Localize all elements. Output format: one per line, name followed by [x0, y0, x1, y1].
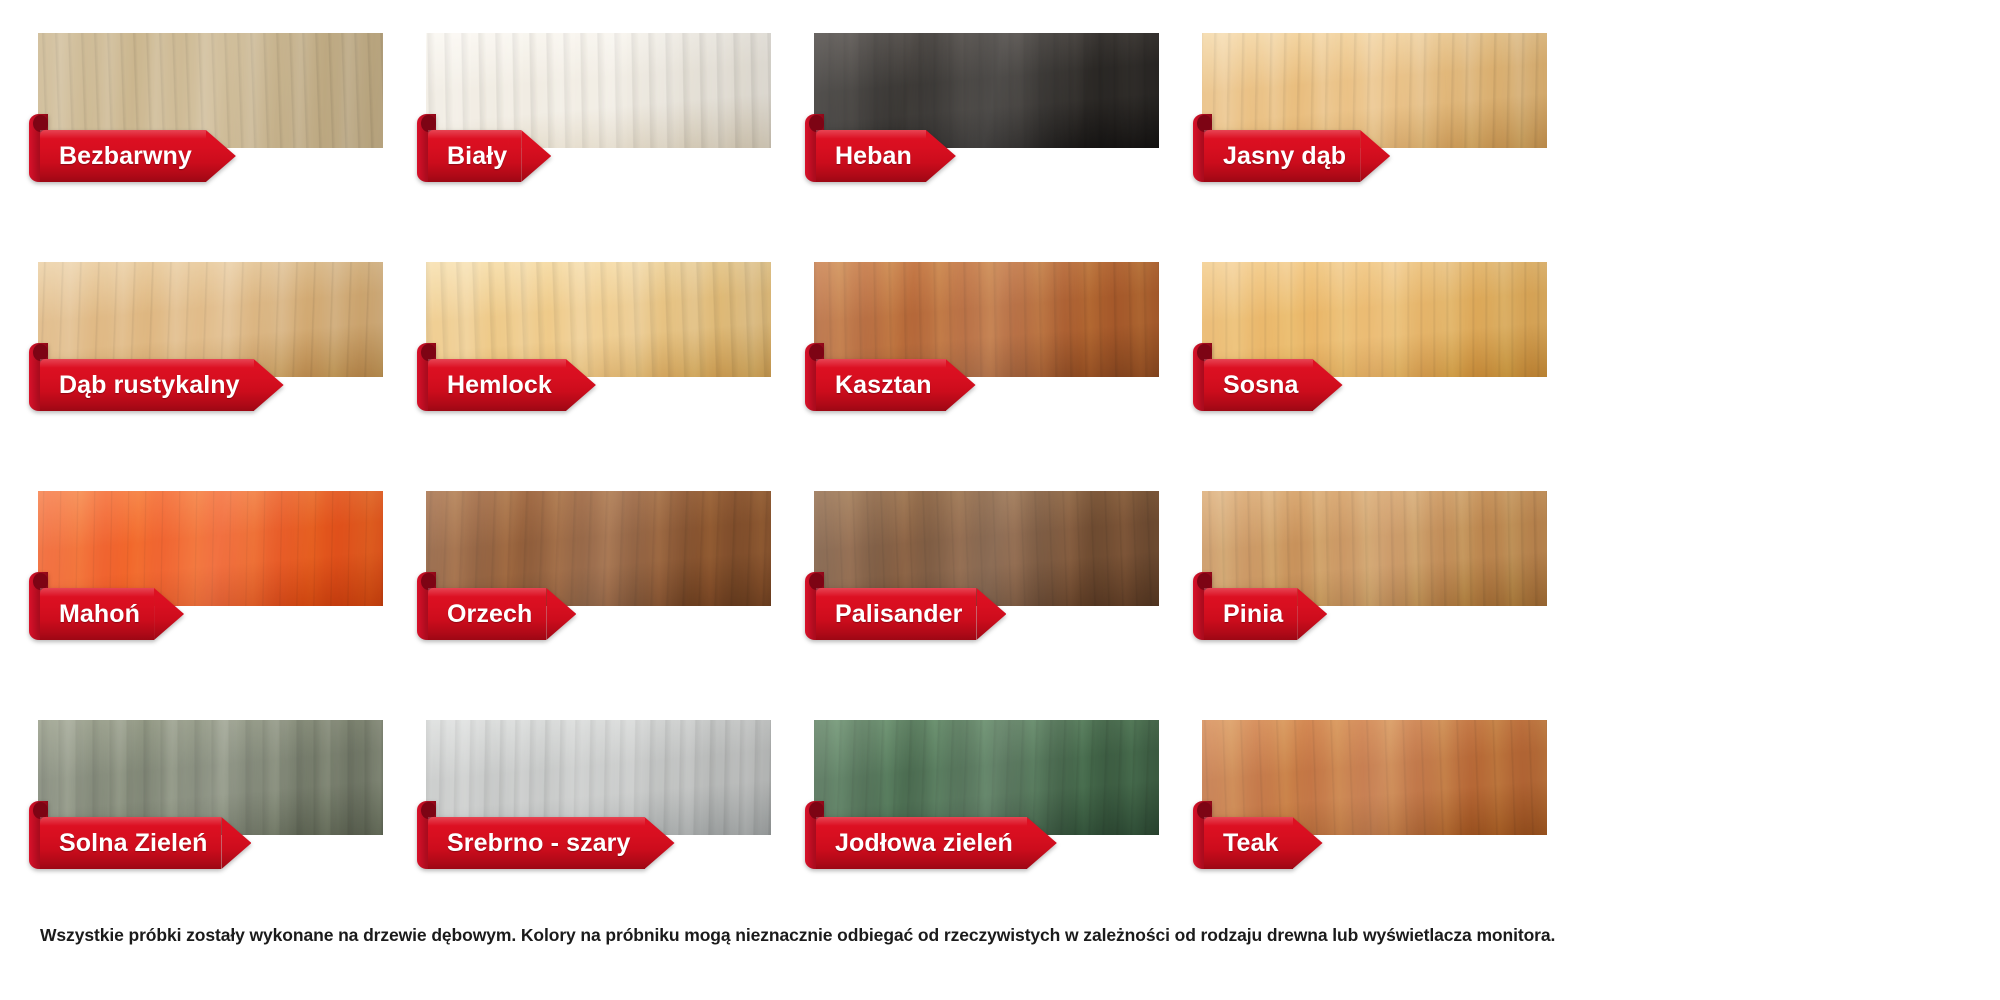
- ribbon-body: Hemlock: [428, 359, 566, 411]
- color-name-label: Pinia: [1223, 602, 1283, 627]
- color-name-ribbon[interactable]: Heban: [805, 130, 956, 182]
- color-name-label: Solna Zieleń: [59, 831, 207, 856]
- swatch-cell[interactable]: Bezbarwny: [38, 33, 383, 205]
- ribbon-body: Jodłowa zieleń: [816, 817, 1027, 869]
- ribbon-body: Mahoń: [40, 588, 154, 640]
- color-name-ribbon[interactable]: Jasny dąb: [1193, 130, 1390, 182]
- swatch-cell[interactable]: Teak: [1202, 720, 1547, 892]
- ribbon-arrow-tip: [1293, 817, 1323, 869]
- color-name-ribbon[interactable]: Biały: [417, 130, 551, 182]
- swatch-cell[interactable]: Jasny dąb: [1202, 33, 1547, 205]
- color-name-ribbon[interactable]: Kasztan: [805, 359, 976, 411]
- swatch-cell[interactable]: Hemlock: [426, 262, 771, 434]
- swatch-cell[interactable]: Sosna: [1202, 262, 1547, 434]
- ribbon-arrow-tip: [221, 817, 251, 869]
- ribbon-arrow-tip: [645, 817, 675, 869]
- swatch-grid: BezbarwnyBiałyHebanJasny dąbDąb rustykal…: [38, 33, 1968, 892]
- ribbon-body: Pinia: [1204, 588, 1297, 640]
- ribbon-body: Palisander: [816, 588, 976, 640]
- color-name-label: Jasny dąb: [1223, 144, 1346, 169]
- color-name-label: Heban: [835, 144, 912, 169]
- ribbon-arrow-tip: [154, 588, 184, 640]
- ribbon-arrow-tip: [546, 588, 576, 640]
- ribbon-body: Dąb rustykalny: [40, 359, 254, 411]
- ribbon-body: Orzech: [428, 588, 546, 640]
- ribbon-arrow-tip: [1360, 130, 1390, 182]
- color-name-label: Dąb rustykalny: [59, 373, 240, 398]
- ribbon-arrow-tip: [976, 588, 1006, 640]
- color-name-ribbon[interactable]: Teak: [1193, 817, 1323, 869]
- swatch-cell[interactable]: Srebrno - szary: [426, 720, 771, 892]
- color-name-ribbon[interactable]: Srebrno - szary: [417, 817, 675, 869]
- swatch-cell[interactable]: Orzech: [426, 491, 771, 663]
- ribbon-body: Kasztan: [816, 359, 946, 411]
- swatch-cell[interactable]: Dąb rustykalny: [38, 262, 383, 434]
- ribbon-arrow-tip: [521, 130, 551, 182]
- ribbon-arrow-tip: [1027, 817, 1057, 869]
- color-name-label: Srebrno - szary: [447, 831, 631, 856]
- color-name-ribbon[interactable]: Hemlock: [417, 359, 596, 411]
- ribbon-arrow-tip: [206, 130, 236, 182]
- ribbon-body: Bezbarwny: [40, 130, 206, 182]
- ribbon-arrow-tip: [946, 359, 976, 411]
- color-name-ribbon[interactable]: Bezbarwny: [29, 130, 236, 182]
- ribbon-body: Srebrno - szary: [428, 817, 645, 869]
- color-name-label: Orzech: [447, 602, 532, 627]
- ribbon-arrow-tip: [926, 130, 956, 182]
- ribbon-arrow-tip: [1313, 359, 1343, 411]
- swatch-cell[interactable]: Palisander: [814, 491, 1159, 663]
- color-name-ribbon[interactable]: Jodłowa zieleń: [805, 817, 1057, 869]
- color-name-ribbon[interactable]: Mahoń: [29, 588, 184, 640]
- ribbon-arrow-tip: [566, 359, 596, 411]
- color-name-ribbon[interactable]: Sosna: [1193, 359, 1343, 411]
- color-name-label: Jodłowa zieleń: [835, 831, 1013, 856]
- color-name-ribbon[interactable]: Dąb rustykalny: [29, 359, 284, 411]
- color-name-label: Kasztan: [835, 373, 932, 398]
- ribbon-arrow-tip: [1297, 588, 1327, 640]
- ribbon-body: Sosna: [1204, 359, 1313, 411]
- swatch-cell[interactable]: Kasztan: [814, 262, 1159, 434]
- color-name-ribbon[interactable]: Pinia: [1193, 588, 1327, 640]
- color-name-ribbon[interactable]: Palisander: [805, 588, 1006, 640]
- ribbon-body: Heban: [816, 130, 926, 182]
- ribbon-body: Teak: [1204, 817, 1293, 869]
- color-name-ribbon[interactable]: Orzech: [417, 588, 576, 640]
- swatch-cell[interactable]: Mahoń: [38, 491, 383, 663]
- ribbon-body: Solna Zieleń: [40, 817, 221, 869]
- color-name-ribbon[interactable]: Solna Zieleń: [29, 817, 251, 869]
- swatch-cell[interactable]: Heban: [814, 33, 1159, 205]
- disclaimer-text: Wszystkie próbki zostały wykonane na drz…: [40, 925, 1555, 946]
- ribbon-arrow-tip: [254, 359, 284, 411]
- color-sampler-page: BezbarwnyBiałyHebanJasny dąbDąb rustykal…: [0, 0, 2000, 1000]
- color-name-label: Hemlock: [447, 373, 552, 398]
- color-name-label: Biały: [447, 144, 507, 169]
- color-name-label: Bezbarwny: [59, 144, 192, 169]
- swatch-cell[interactable]: Pinia: [1202, 491, 1547, 663]
- color-name-label: Mahoń: [59, 602, 140, 627]
- swatch-cell[interactable]: Jodłowa zieleń: [814, 720, 1159, 892]
- swatch-cell[interactable]: Solna Zieleń: [38, 720, 383, 892]
- ribbon-body: Biały: [428, 130, 521, 182]
- ribbon-body: Jasny dąb: [1204, 130, 1360, 182]
- color-name-label: Sosna: [1223, 373, 1299, 398]
- swatch-cell[interactable]: Biały: [426, 33, 771, 205]
- color-name-label: Palisander: [835, 602, 962, 627]
- color-name-label: Teak: [1223, 831, 1279, 856]
